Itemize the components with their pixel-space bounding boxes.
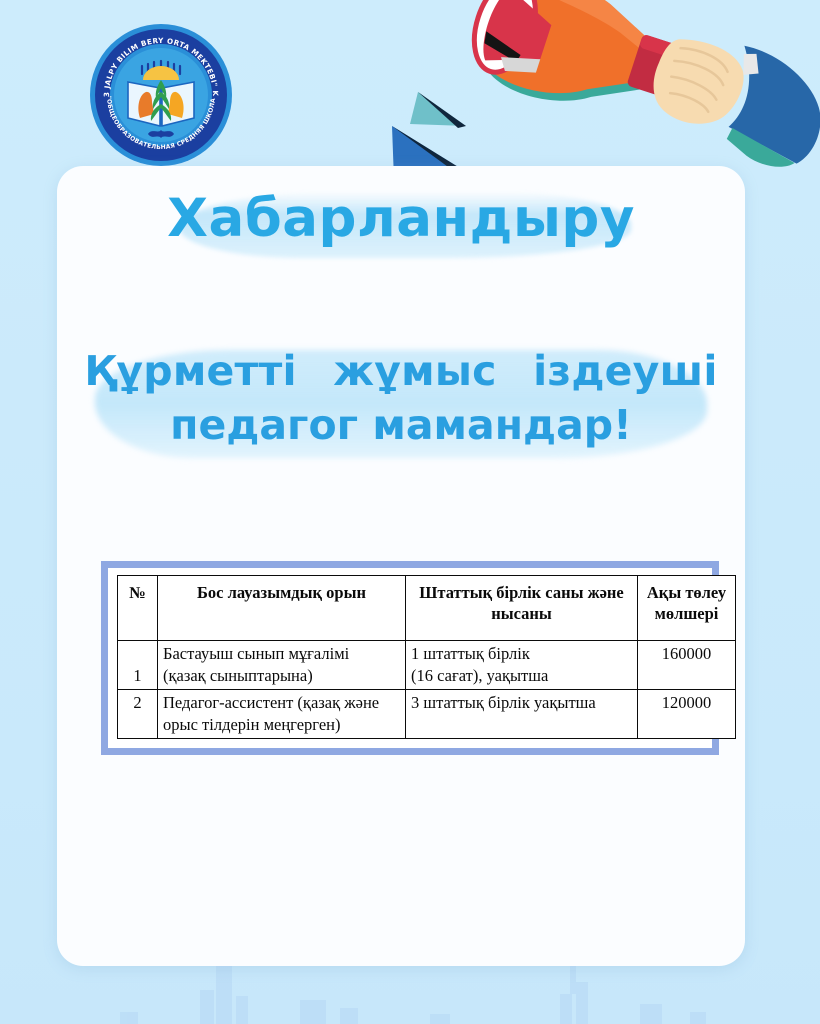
row-position: Педагог-ассистент (қазақ және орыс тілде… — [158, 690, 406, 739]
table-row: 1 Бастауыш сынып мұғалімі (қазақ сыныпта… — [118, 641, 736, 690]
vacancy-table-frame: № Бос лауазымдық орын Штаттық бірлік сан… — [101, 561, 719, 755]
row-position-line-2: орыс тілдерін меңгерген) — [163, 714, 400, 736]
column-header-position: Бос лауазымдық орын — [158, 576, 406, 641]
table-row: 2 Педагог-ассистент (қазақ және орыс тіл… — [118, 690, 736, 739]
column-header-number: № — [118, 576, 158, 641]
content-card: Хабарландыру Құрметті жұмыс іздеуші педа… — [57, 166, 745, 966]
row-position-line-2: (қазақ сыныптарына) — [163, 665, 400, 687]
row-position: Бастауыш сынып мұғалімі (қазақ сыныптары… — [158, 641, 406, 690]
subtitle-section: Құрметті жұмыс іздеуші педагог мамандар! — [57, 344, 745, 452]
row-pay: 160000 — [638, 641, 736, 690]
subtitle-line-2: педагог мамандар! — [57, 398, 745, 452]
table-header-row: № Бос лауазымдық орын Штаттық бірлік сан… — [118, 576, 736, 641]
row-units-line-2: (16 сағат), уақытша — [411, 665, 632, 687]
column-header-pay: Ақы төлеу мөлшері — [638, 576, 736, 641]
column-header-units: Штаттық бірлік саны және нысаны — [406, 576, 638, 641]
announcement-poster: №23 JALPY BILIM BERY ORTA MEKTEBI" KMM K… — [0, 0, 820, 1024]
vacancy-table: № Бос лауазымдық орын Штаттық бірлік сан… — [117, 575, 736, 739]
row-number: 1 — [118, 641, 158, 690]
row-position-line-1: Бастауыш сынып мұғалімі — [163, 643, 400, 665]
row-units: 3 штаттық бірлік уақытша — [406, 690, 638, 739]
row-units-line-1: 3 штаттық бірлік уақытша — [411, 692, 632, 714]
school-emblem-logo: №23 JALPY BILIM BERY ORTA MEKTEBI" KMM K… — [88, 22, 234, 168]
page-title: Хабарландыру — [57, 188, 745, 250]
title-section: Хабарландыру — [57, 188, 745, 250]
row-position-line-1: Педагог-ассистент (қазақ және — [163, 692, 400, 714]
row-pay: 120000 — [638, 690, 736, 739]
row-number: 2 — [118, 690, 158, 739]
row-units-line-1: 1 штаттық бірлік — [411, 643, 632, 665]
row-units: 1 штаттық бірлік (16 сағат), уақытша — [406, 641, 638, 690]
subtitle-line-1: Құрметті жұмыс іздеуші — [57, 344, 745, 398]
subtitle: Құрметті жұмыс іздеуші педагог мамандар! — [57, 344, 745, 452]
